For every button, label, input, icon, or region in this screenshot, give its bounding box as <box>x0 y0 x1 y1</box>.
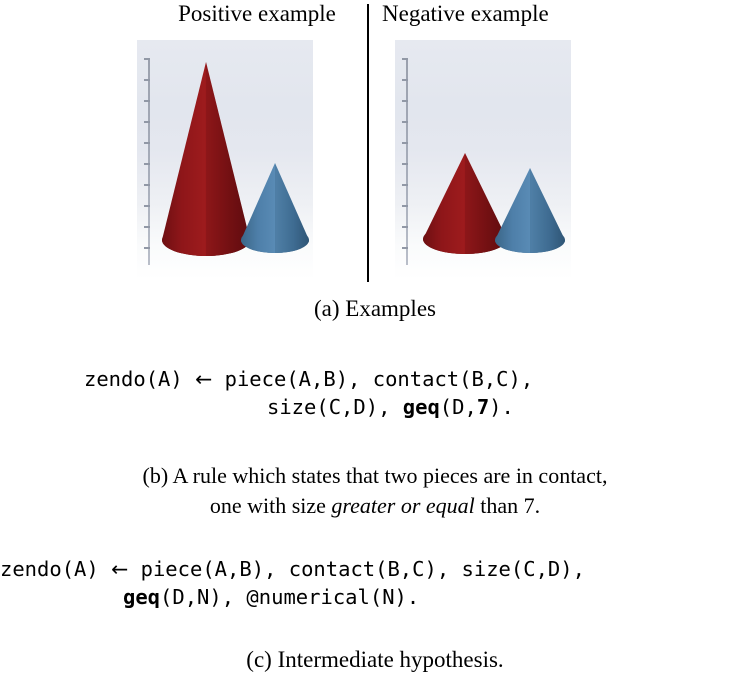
negative-example-scene <box>395 40 571 280</box>
ruler-spine <box>406 58 408 265</box>
caption-b-emphasis: greater or equal <box>331 493 474 518</box>
ruler-tick <box>402 247 408 249</box>
ruler-tick <box>402 142 408 144</box>
ruler-tick <box>144 79 150 81</box>
rule-b-code-line-1: zendo(A) ← piece(A,B), contact(B,C), <box>84 365 533 393</box>
ruler-tick <box>402 184 408 186</box>
rule-c-body: piece(A,B), contact(B,C), size(C,D), <box>128 557 585 581</box>
ruler-tick <box>144 142 150 144</box>
rule-b-geq-predicate: geq <box>403 395 440 419</box>
ruler-tick <box>402 205 408 207</box>
examples-figure: Positive example Negative example <box>0 0 750 335</box>
left-arrow-icon: ← <box>111 557 128 581</box>
ruler-negative <box>401 58 413 265</box>
medium-blue-cone <box>491 168 569 266</box>
negative-example-heading: Negative example <box>382 0 627 28</box>
ruler-tick <box>144 121 150 123</box>
ruler-tick <box>402 163 408 165</box>
ruler-spine <box>148 58 150 265</box>
ruler-tick <box>144 163 150 165</box>
ruler-tick <box>402 79 408 81</box>
ruler-positive <box>143 58 155 265</box>
ruler-tick <box>144 58 150 60</box>
rule-c-head: zendo(A) <box>0 557 111 581</box>
positive-example-scene <box>137 40 313 280</box>
caption-c: (c) Intermediate hypothesis. <box>0 645 750 675</box>
ruler-tick <box>402 226 408 228</box>
rule-b-geq-close: ). <box>489 395 514 419</box>
rule-c-code-line-1: zendo(A) ← piece(A,B), contact(B,C), siz… <box>0 555 585 583</box>
rule-b-geq-threshold: 7 <box>477 395 489 419</box>
rule-c-geq-args: (D,N), @numerical(N). <box>160 585 419 609</box>
rule-b-size-literal: size(C,D), <box>267 395 403 419</box>
ruler-tick <box>402 121 408 123</box>
positive-example-heading: Positive example <box>147 0 367 28</box>
caption-b-line-2-post: than 7. <box>475 493 540 518</box>
caption-b-line-2: one with size greater or equal than 7. <box>0 491 750 521</box>
caption-b-line-2-pre: one with size <box>210 493 332 518</box>
rule-c-figure: zendo(A) ← piece(A,B), contact(B,C), siz… <box>0 555 750 645</box>
ruler-tick <box>144 100 150 102</box>
ruler-tick <box>402 58 408 60</box>
caption-b-line-1: (b) A rule which states that two pieces … <box>0 461 750 491</box>
ruler-tick <box>144 184 150 186</box>
rule-c-geq-predicate: geq <box>123 585 160 609</box>
rule-b-code-line-2: size(C,D), geq(D,7). <box>267 393 514 421</box>
left-arrow-icon: ← <box>195 367 212 391</box>
small-blue-cone <box>237 163 313 265</box>
ruler-tick <box>144 226 150 228</box>
panel-headings: Positive example Negative example <box>0 0 750 30</box>
caption-b: (b) A rule which states that two pieces … <box>0 461 750 521</box>
ruler-tick <box>402 100 408 102</box>
ruler-tick <box>144 205 150 207</box>
panel-divider <box>367 4 369 282</box>
rule-b-geq-open: (D, <box>440 395 477 419</box>
rule-b-head: zendo(A) <box>84 367 195 391</box>
caption-a: (a) Examples <box>0 294 750 324</box>
rule-b-body: piece(A,B), contact(B,C), <box>212 367 533 391</box>
rule-c-code-line-2: geq(D,N), @numerical(N). <box>123 583 419 611</box>
ruler-tick <box>144 247 150 249</box>
